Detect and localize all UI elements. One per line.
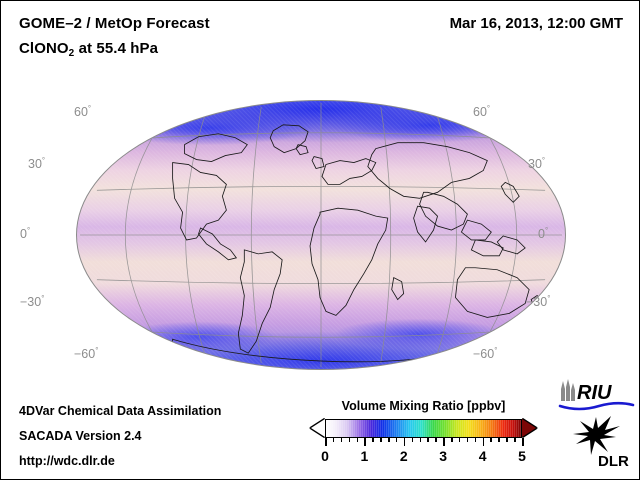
lat-label-30s-left: −30° (20, 294, 44, 309)
colorbar-title: Volume Mixing Ratio [ppbv] (311, 399, 536, 413)
website-link[interactable]: http://wdc.dlr.de (19, 454, 115, 468)
colorbar-tick-minor (396, 438, 398, 442)
map-vectors (77, 101, 565, 369)
colorbar-ticks (325, 438, 522, 446)
graticule (80, 103, 562, 367)
colorbar-extend-low-arrow (311, 419, 325, 437)
colorbar-tick-minor (459, 438, 461, 442)
colorbar-tick-labels: 012345 (325, 448, 522, 466)
coastlines (173, 125, 549, 369)
colorbar-tick-minor (341, 438, 343, 442)
method-label: 4DVar Chemical Data Assimilation (19, 404, 221, 418)
colorbar-tick-label: 3 (439, 448, 447, 464)
colorbar-tick-label: 1 (360, 448, 368, 464)
instrument-title: GOME–2 / MetOp Forecast (19, 15, 210, 32)
dlr-mark-icon (573, 416, 620, 455)
colorbar-tick-minor (506, 438, 508, 442)
colorbar-tick-minor (412, 438, 414, 442)
lat-label-60s-left: −60° (74, 346, 98, 361)
species-level: at 55.4 hPa (74, 40, 158, 57)
colorbar-extend-high-arrow (522, 419, 536, 437)
colorbar: Volume Mixing Ratio [ppbv] 012345 (311, 399, 536, 466)
riu-wordmark: RIU (577, 382, 612, 404)
lat-label-30n-right: 30° (528, 156, 545, 171)
colorbar-tick-minor (427, 438, 429, 442)
colorbar-tick-minor (498, 438, 500, 442)
colorbar-dither (326, 420, 521, 437)
lat-label-0-left: 0° (20, 226, 30, 241)
colorbar-tick-major (325, 438, 327, 446)
lat-label-0-right: 0° (538, 226, 548, 241)
mollweide-globe (76, 100, 566, 370)
riu-wave-icon (560, 403, 633, 409)
colorbar-tick-major (483, 438, 485, 446)
species-prefix: ClONO (19, 40, 69, 57)
colorbar-tick-label: 4 (479, 448, 487, 464)
colorbar-tick-major (522, 438, 524, 446)
colorbar-tick-minor (490, 438, 492, 442)
species-title: ClONO2 at 55.4 hPa (19, 40, 210, 57)
global-map: 60° 30° 0° −30° −60° 60° 30° 0° −30° −60… (76, 100, 566, 370)
colorbar-tick-minor (451, 438, 453, 442)
colorbar-tick-minor (357, 438, 359, 442)
lat-label-30s-right: −30° (526, 294, 550, 309)
colorbar-tick-minor (333, 438, 335, 442)
figure-page: GOME–2 / MetOp Forecast ClONO2 at 55.4 h… (0, 0, 640, 480)
colorbar-tick-minor (349, 438, 351, 442)
colorbar-tick-label: 2 (400, 448, 408, 464)
colorbar-bar (311, 419, 536, 438)
colorbar-gradient (325, 419, 522, 438)
riu-tower-icon (561, 379, 575, 401)
species-subscript: 2 (69, 48, 75, 59)
colorbar-tick-minor (514, 438, 516, 442)
colorbar-tick-major (404, 438, 406, 446)
version-label: SACADA Version 2.4 (19, 429, 142, 443)
colorbar-tick-minor (467, 438, 469, 442)
dlr-logo: DLR (564, 413, 636, 469)
colorbar-tick-minor (420, 438, 422, 442)
lat-label-30n-left: 30° (28, 156, 45, 171)
lat-label-60n-left: 60° (74, 104, 91, 119)
figure-title-block: GOME–2 / MetOp Forecast ClONO2 at 55.4 h… (19, 15, 210, 57)
riu-logo: RIU (557, 377, 635, 411)
dlr-wordmark: DLR (598, 453, 629, 469)
colorbar-tick-label: 5 (518, 448, 526, 464)
forecast-datetime: Mar 16, 2013, 12:00 GMT (450, 15, 623, 32)
colorbar-tick-major (364, 438, 366, 446)
colorbar-tick-minor (380, 438, 382, 442)
colorbar-tick-major (443, 438, 445, 446)
lat-label-60n-right: 60° (473, 104, 490, 119)
lat-label-60s-right: −60° (473, 346, 497, 361)
colorbar-tick-minor (388, 438, 390, 442)
colorbar-tick-minor (435, 438, 437, 442)
colorbar-tick-minor (475, 438, 477, 442)
colorbar-tick-label: 0 (321, 448, 329, 464)
colorbar-tick-minor (372, 438, 374, 442)
